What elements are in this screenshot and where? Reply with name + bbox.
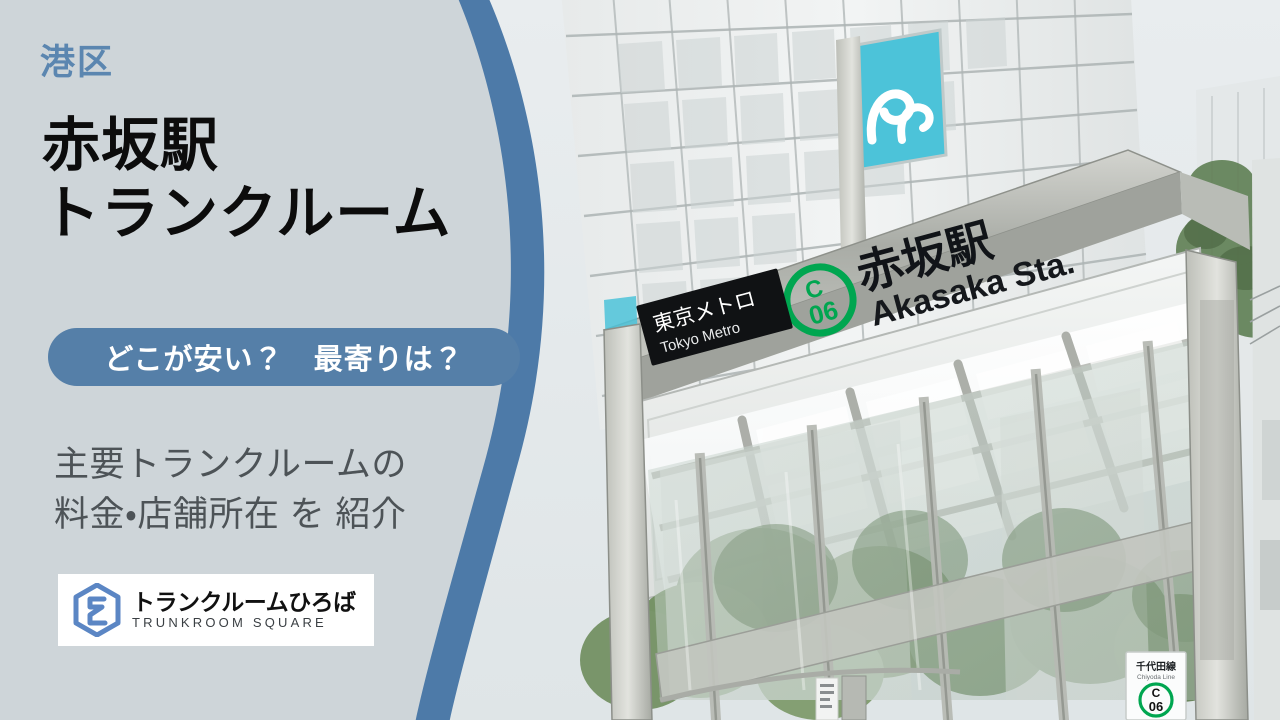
hexagon-e-mark-icon bbox=[72, 583, 122, 637]
lead-line1: 主要トランクルームの bbox=[54, 440, 524, 490]
svg-text:06: 06 bbox=[1149, 699, 1163, 714]
page-title-line2: トランクルーム bbox=[42, 180, 542, 248]
logo-wordmark: トランクルームひろば TRUNKROOM SQUARE bbox=[132, 591, 356, 629]
text-content: 港区 赤坂駅 トランクルーム どこが安い？ 最寄りは？ 主要トランクルームの 料… bbox=[0, 0, 560, 720]
thumbnail-canvas: C 06 赤坂駅 Akasaka Sta. 東京メトロ Tokyo Metro bbox=[0, 0, 1280, 720]
tokyo-metro-banner bbox=[851, 30, 946, 170]
lead-description: 主要トランクルームの 料金・店舗所在 を 紹介 bbox=[54, 440, 524, 539]
svg-text:C: C bbox=[1152, 686, 1161, 700]
ward-label: 港区 bbox=[40, 45, 114, 80]
right-utility-scene bbox=[1250, 158, 1280, 720]
question-badge: どこが安い？ 最寄りは？ bbox=[48, 328, 520, 386]
chiyoda-line-sign: 千代田線 Chiyoda Line C 06 bbox=[1126, 652, 1186, 720]
site-logo[interactable]: トランクルームひろば TRUNKROOM SQUARE bbox=[58, 574, 374, 646]
logo-name-en: TRUNKROOM SQUARE bbox=[132, 616, 356, 629]
line-name-en-text: Chiyoda Line bbox=[1137, 674, 1175, 681]
page-title-line1: 赤坂駅 bbox=[42, 112, 542, 180]
question-2: 最寄りは？ bbox=[314, 336, 464, 378]
logo-name-jp: トランクルームひろば bbox=[132, 591, 356, 614]
question-1: どこが安い？ bbox=[104, 336, 283, 378]
page-title: 赤坂駅 トランクルーム bbox=[42, 112, 542, 249]
question-badge-text: どこが安い？ 最寄りは？ bbox=[104, 336, 463, 378]
lead-line2: 料金・店舗所在 を 紹介 bbox=[54, 490, 524, 540]
line-name-jp-text: 千代田線 bbox=[1136, 660, 1177, 673]
